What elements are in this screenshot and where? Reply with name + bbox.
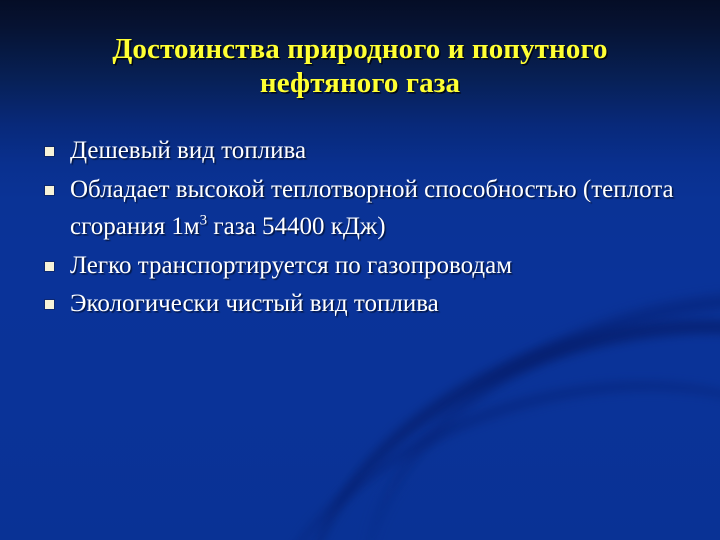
square-bullet-icon (45, 262, 54, 271)
square-bullet-icon (45, 147, 54, 156)
list-item: Легко транспортируется по газопроводам (40, 247, 688, 285)
list-item-text: Обладает высокой теплотворной способност… (70, 171, 688, 246)
list-item: Дешевый вид топлива (40, 132, 688, 170)
square-bullet-icon (45, 186, 54, 195)
slide-title: Достоинства природного и попутного нефтя… (36, 32, 684, 100)
list-item-text: Дешевый вид топлива (70, 132, 688, 170)
list-item: Экологически чистый вид топлива (40, 285, 688, 323)
bullet-list: Дешевый вид топлива Обладает высокой теп… (40, 132, 688, 324)
presentation-slide: Достоинства природного и попутного нефтя… (0, 0, 720, 540)
decorative-swoosh-band-3 (205, 309, 720, 540)
slide-title-line-2: нефтяного газа (36, 66, 684, 100)
square-bullet-icon (45, 300, 54, 309)
list-item: Обладает высокой теплотворной способност… (40, 171, 688, 246)
slide-title-line-1: Достоинства природного и попутного (36, 32, 684, 66)
list-item-text-part-2: газа 54400 кДж) (207, 213, 385, 240)
list-item-text: Экологически чистый вид топлива (70, 285, 688, 323)
list-item-text: Легко транспортируется по газопроводам (70, 247, 688, 285)
